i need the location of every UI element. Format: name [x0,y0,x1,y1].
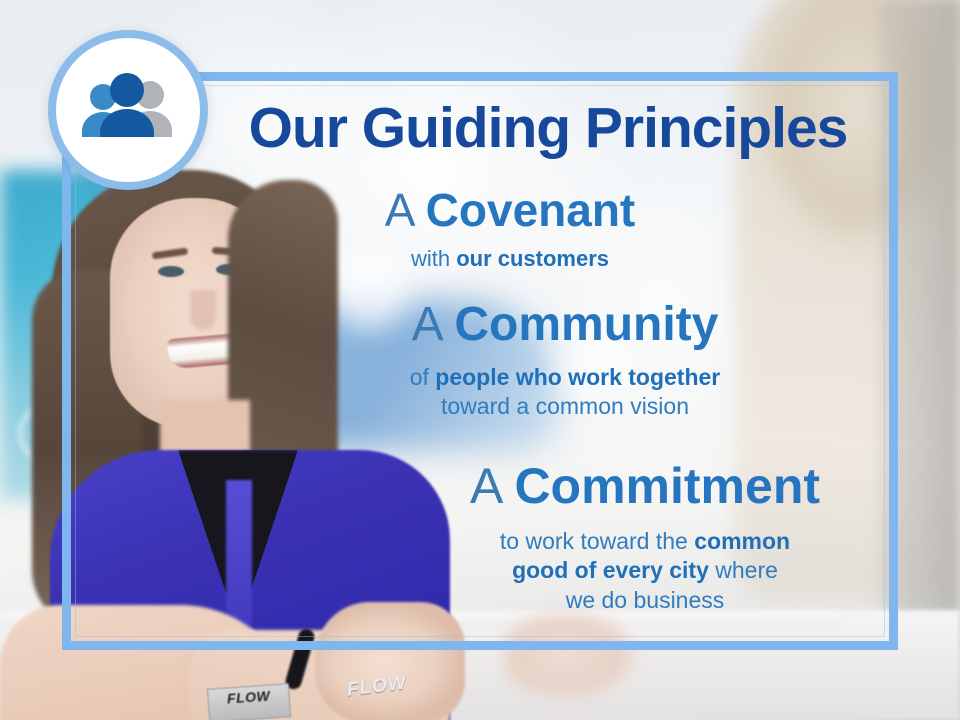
principle-community-heading: A Community [330,300,800,351]
principle-community-article: A [412,298,441,351]
principle-covenant-heading: A Covenant [300,186,720,235]
principle-commitment: A Commitment to work toward the commongo… [400,460,890,615]
subtext-line: good of every city where [400,556,890,585]
subtext-line: with our customers [300,245,720,273]
principle-commitment-subtext: to work toward the commongood of every c… [400,527,890,615]
subtext-line: of people who work together [330,363,800,392]
principle-community-subtext: of people who work togethertoward a comm… [330,363,800,422]
guiding-principles-banner: FLOW FLOW Our Guiding Principles A Coven… [0,0,960,720]
subject-folded-hands [315,602,465,720]
subtext-line: toward a common vision [330,392,800,421]
people-group-badge [48,30,208,190]
principle-commitment-article: A [470,458,501,514]
background-customer-hand [505,600,685,710]
people-group-icon [76,73,180,147]
principle-commitment-keyword: Commitment [514,458,820,514]
principle-covenant: A Covenant with our customers [300,186,720,273]
subject-eye-left [158,266,184,277]
subtext-line: we do business [400,586,890,615]
principle-commitment-heading: A Commitment [400,460,890,513]
subtext-line: to work toward the common [400,527,890,556]
principle-community-keyword: Community [454,298,718,351]
principle-covenant-keyword: Covenant [426,184,636,236]
subject-nose [190,290,216,330]
page-title: Our Guiding Principles [218,96,878,160]
principle-community: A Community of people who work togethert… [330,300,800,422]
subject-name-badge: FLOW [207,683,291,720]
principle-covenant-article: A [385,184,413,236]
principle-covenant-subtext: with our customers [300,245,720,273]
name-badge-brand-text: FLOW [226,688,270,707]
